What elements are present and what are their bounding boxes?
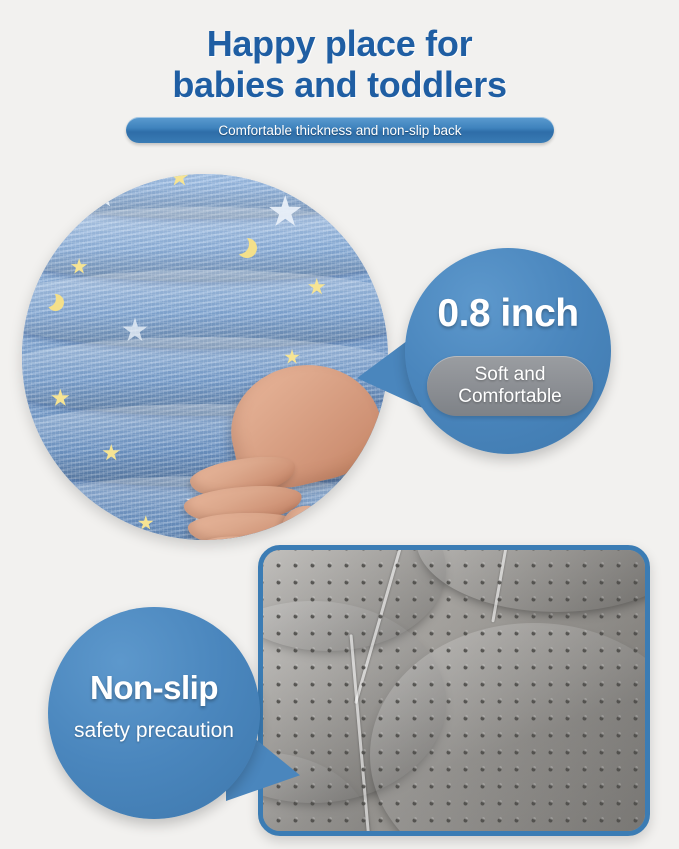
gray-fabric [263, 550, 645, 831]
thickness-value: 0.8 inch [405, 292, 611, 336]
hand-pressing [182, 355, 388, 540]
nonslip-title: Non-slip [48, 669, 260, 707]
callout-disc [405, 248, 611, 454]
soft-badge-line-2: Comfortable [458, 386, 562, 408]
subtitle-banner: Comfortable thickness and non-slip back [126, 117, 554, 143]
nonslip-subtitle: safety precaution [48, 719, 260, 743]
title-line-2: babies and toddlers [0, 65, 679, 106]
nonslip-callout: Non-slip safety precaution [48, 607, 288, 819]
soft-badge-line-1: Soft and [475, 364, 546, 386]
soft-comfortable-badge: Soft and Comfortable [427, 356, 593, 416]
thickness-callout: 0.8 inch Soft and Comfortable [383, 248, 611, 476]
nonslip-dot-highlights [258, 545, 650, 836]
nonslip-bottom-photo [258, 545, 650, 836]
subtitle-text: Comfortable thickness and non-slip back [218, 123, 461, 138]
title-line-1: Happy place for [207, 23, 473, 64]
callout-disc [48, 607, 260, 819]
page-title: Happy place for babies and toddlers [0, 24, 679, 105]
marketing-infographic: Happy place for babies and toddlers Comf… [0, 0, 679, 849]
mattress-fabric [22, 174, 388, 540]
mattress-top-photo [22, 174, 388, 540]
